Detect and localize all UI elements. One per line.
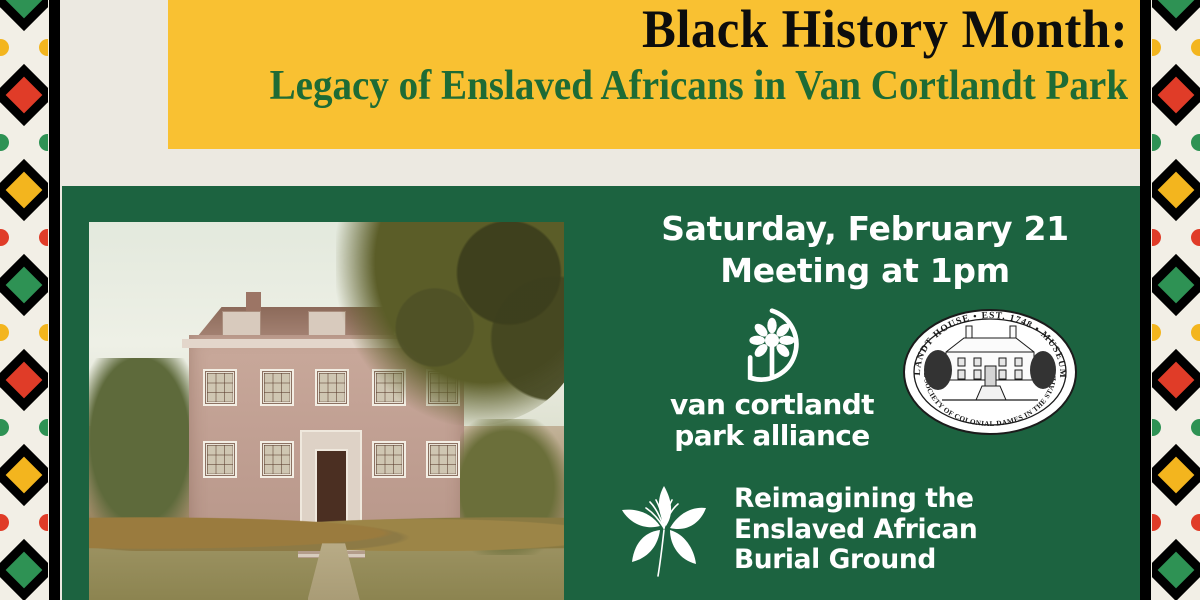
border-diamond: [1152, 444, 1200, 506]
event-time: Meeting at 1pm: [590, 250, 1140, 292]
left-black-rail: [49, 0, 60, 600]
reimagining-line-1: Reimagining the: [734, 484, 977, 515]
poster-subtitle: Legacy of Enslaved Africans in Van Cortl…: [270, 62, 1128, 110]
border-diamond: [1152, 254, 1200, 316]
border-diamond: [1152, 349, 1200, 411]
border-dot: [1152, 229, 1161, 246]
border-dot: [1152, 39, 1161, 56]
border-dot: [1191, 229, 1200, 246]
border-diamond: [0, 159, 48, 221]
border-diamond: [0, 64, 48, 126]
event-date-block: Saturday, February 21 Meeting at 1pm: [590, 208, 1140, 292]
border-dot: [0, 514, 9, 531]
border-dot: [1191, 324, 1200, 341]
border-dot: [39, 514, 48, 531]
photo-window: [260, 369, 294, 405]
border-diamond: [0, 0, 48, 31]
border-dot: [0, 134, 9, 151]
border-dot: [0, 419, 9, 436]
border-diamond: [0, 444, 48, 506]
photo-window: [260, 441, 294, 477]
event-date: Saturday, February 21: [590, 208, 1140, 250]
van-cortlandt-house-photo: [89, 222, 564, 600]
border-diamond: [1152, 539, 1200, 600]
reimagining-wordmark: Reimagining the Enslaved African Burial …: [734, 484, 977, 576]
right-kente-band: [1152, 0, 1200, 600]
border-dot: [1152, 324, 1161, 341]
lily-flower-icon: [608, 478, 720, 582]
border-dot: [39, 229, 48, 246]
photo-window: [203, 441, 237, 477]
border-dot: [1152, 514, 1161, 531]
header-banner: Black History Month: Legacy of Enslaved …: [168, 0, 1140, 149]
border-dot: [39, 134, 48, 151]
border-dot: [39, 419, 48, 436]
border-dot: [1191, 39, 1200, 56]
border-dot: [39, 39, 48, 56]
left-kente-border: [0, 0, 60, 600]
border-dot: [0, 324, 9, 341]
photo-window: [372, 441, 406, 477]
border-diamond: [1152, 64, 1200, 126]
vcpa-line-1: van cortlandt: [652, 390, 892, 420]
reimagining-line-2: Enslaved African: [734, 515, 977, 546]
tree-in-circle-icon: [733, 306, 811, 384]
border-diamond: [1152, 0, 1200, 31]
border-diamond: [0, 349, 48, 411]
border-diamond: [1152, 159, 1200, 221]
poster-title: Black History Month:: [642, 0, 1128, 60]
right-kente-border: [1140, 0, 1200, 600]
event-details-column: Saturday, February 21 Meeting at 1pm: [590, 186, 1140, 600]
event-flyer: Black History Month: Legacy of Enslaved …: [0, 0, 1200, 600]
border-dot: [0, 229, 9, 246]
vcpa-line-2: park alliance: [652, 421, 892, 451]
border-dot: [1152, 419, 1161, 436]
border-dot: [39, 324, 48, 341]
vcpa-logo: van cortlandt park alliance: [652, 306, 892, 450]
logo-row: van cortlandt park alliance VAN CORTLAND…: [590, 306, 1140, 446]
border-dot: [1152, 134, 1161, 151]
right-black-rail: [1140, 0, 1151, 600]
photo-window: [315, 369, 349, 405]
border-dot: [1191, 419, 1200, 436]
museum-seal-icon: VAN CORTLANDT HOUSE • EST. 1748 • MUSEUM…: [902, 308, 1078, 436]
border-diamond: [0, 254, 48, 316]
photo-window: [203, 369, 237, 405]
left-kente-band: [0, 0, 48, 600]
photo-image: [89, 222, 564, 600]
reimagining-logo: Reimagining the Enslaved African Burial …: [608, 478, 1128, 582]
border-diamond: [0, 539, 48, 600]
reimagining-line-3: Burial Ground: [734, 545, 977, 576]
border-dot: [1191, 134, 1200, 151]
photo-window: [426, 441, 460, 477]
border-dot: [0, 39, 9, 56]
museum-seal-logo: VAN CORTLANDT HOUSE • EST. 1748 • MUSEUM…: [902, 308, 1078, 436]
border-dot: [1191, 514, 1200, 531]
vcpa-wordmark: van cortlandt park alliance: [652, 390, 892, 450]
